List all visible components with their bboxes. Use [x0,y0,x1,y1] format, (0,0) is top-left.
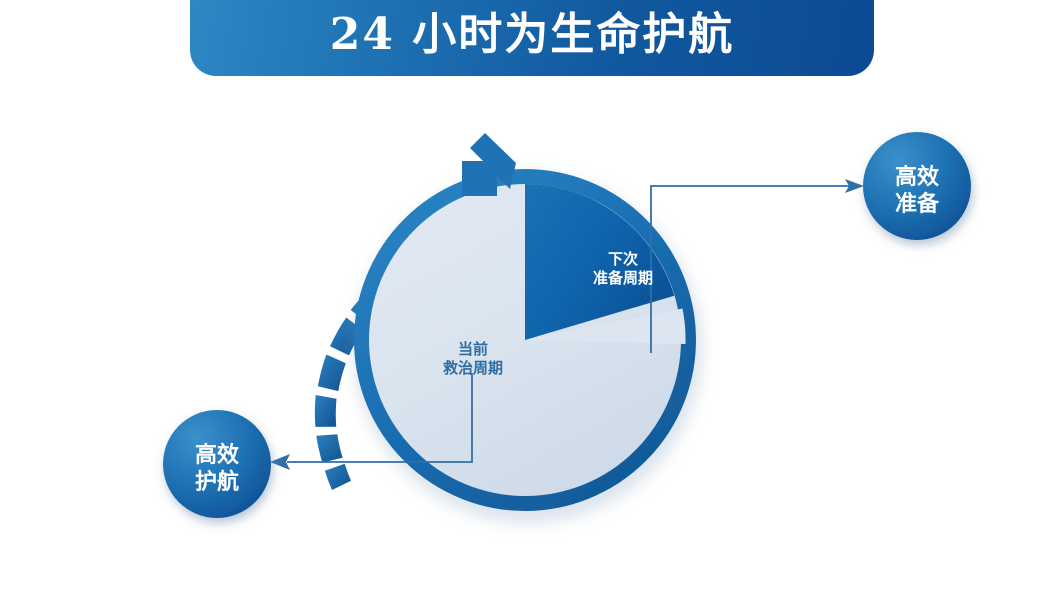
rotation-arrow-icon [462,133,516,196]
page-title: 24 小时为生命护航 [330,13,735,57]
cycle-diagram: 下次 准备周期 当前 救治周期 高效 准备 高效 护航 [0,76,1063,599]
title-banner: 24 小时为生命护航 [190,0,874,76]
diagram-svg [0,76,1063,599]
callout-bubble-right[interactable] [863,132,971,240]
callout-bubble-left[interactable] [163,410,271,518]
